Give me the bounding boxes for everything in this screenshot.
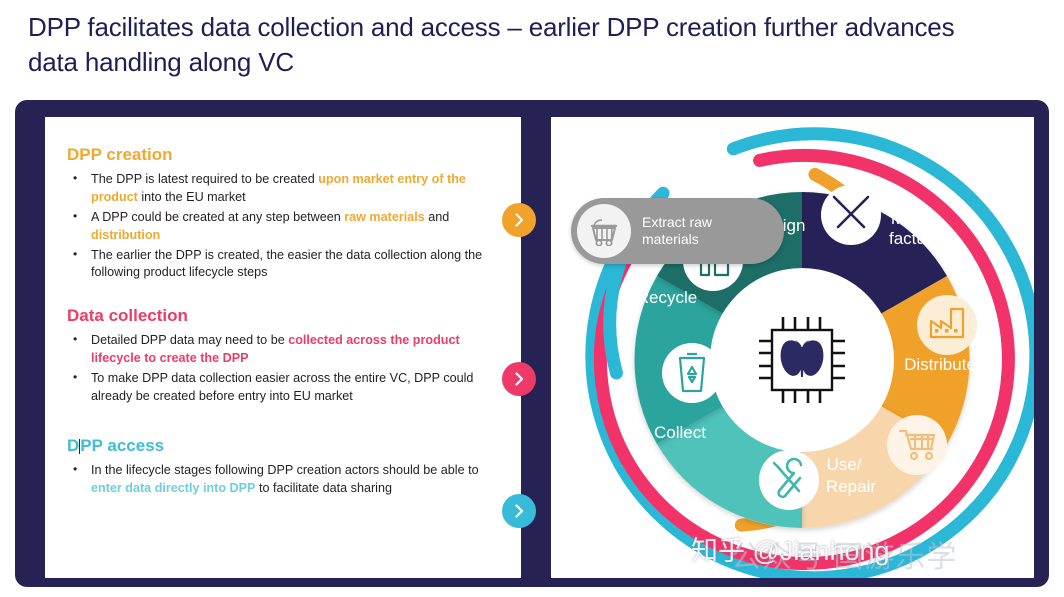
section-heading-dpp-creation: DPP creation bbox=[67, 145, 499, 165]
section-heading-dpp-access: DPP access bbox=[67, 436, 499, 456]
section-heading-data-collection: Data collection bbox=[67, 306, 499, 326]
bullet-list-dpp-creation: The DPP is latest required to be created… bbox=[67, 171, 499, 282]
section-dpp-access: DPP access In the lifecycle stages follo… bbox=[67, 436, 499, 498]
use-repair-icon-bubble[interactable] bbox=[759, 450, 819, 510]
lifecycle-wheel-svg: Design Manu- facture Distribute Use/ Rep… bbox=[567, 125, 1034, 578]
bullet-text: to facilitate data sharing bbox=[255, 481, 392, 495]
wheel-label-use-repair: Use/ bbox=[827, 455, 862, 474]
chevron-right-icon-data-collection[interactable] bbox=[502, 362, 536, 396]
wheel-label-recycle: Recycle bbox=[637, 288, 697, 307]
section-dpp-creation: DPP creation The DPP is latest required … bbox=[67, 145, 499, 282]
bullet-list-dpp-access: In the lifecycle stages following DPP cr… bbox=[67, 462, 499, 498]
list-item: In the lifecycle stages following DPP cr… bbox=[67, 462, 499, 498]
bullet-text: To make DPP data collection easier acros… bbox=[91, 371, 473, 403]
right-diagram-panel: Design Manu- facture Distribute Use/ Rep… bbox=[551, 117, 1034, 578]
section-heading-text: DPP access bbox=[67, 436, 164, 455]
collect-icon-bubble[interactable] bbox=[662, 343, 722, 403]
list-item: Detailed DPP data may need to be collect… bbox=[67, 332, 499, 368]
lifecycle-wheel: Design Manu- facture Distribute Use/ Rep… bbox=[567, 125, 1034, 578]
bullet-text: The DPP is latest required to be created bbox=[91, 172, 318, 186]
wheel-label-manufacture: Manu- bbox=[891, 209, 939, 228]
chevron-right-icon-dpp-creation[interactable] bbox=[502, 203, 536, 237]
list-item: The earlier the DPP is created, the easi… bbox=[67, 247, 499, 283]
microchip-butterfly-icon bbox=[759, 317, 845, 403]
left-content-panel: DPP creation The DPP is latest required … bbox=[45, 117, 521, 578]
wheel-label-distribute: Distribute bbox=[904, 355, 976, 374]
extract-raw-materials-label[interactable]: Extract raw materials bbox=[571, 198, 784, 264]
bullet-highlight: enter data directly into DPP bbox=[91, 481, 255, 495]
bullet-text: and bbox=[425, 210, 450, 224]
list-item: A DPP could be created at any step betwe… bbox=[67, 209, 499, 245]
bullet-text: A DPP could be created at any step betwe… bbox=[91, 210, 344, 224]
bullet-text: into the EU market bbox=[138, 190, 246, 204]
bullet-text: Detailed DPP data may need to be bbox=[91, 333, 288, 347]
bullet-highlight: raw materials bbox=[344, 210, 425, 224]
section-list: DPP creation The DPP is latest required … bbox=[45, 117, 521, 498]
slide-root: DPP facilitates data collection and acce… bbox=[0, 0, 1064, 597]
page-title: DPP facilitates data collection and acce… bbox=[28, 10, 1008, 79]
design-icon-bubble[interactable] bbox=[821, 185, 881, 245]
section-data-collection: Data collection Detailed DPP data may ne… bbox=[67, 306, 499, 406]
chevron-right-icon-dpp-access[interactable] bbox=[502, 494, 536, 528]
mine-cart-icon bbox=[577, 204, 631, 258]
list-item: The DPP is latest required to be created… bbox=[67, 171, 499, 207]
distribute-icon-bubble[interactable] bbox=[887, 415, 947, 475]
manufacture-icon-bubble[interactable] bbox=[917, 295, 977, 355]
extract-raw-materials-text: Extract raw materials bbox=[642, 214, 760, 248]
bullet-highlight: distribution bbox=[91, 228, 160, 242]
bullet-text: In the lifecycle stages following DPP cr… bbox=[91, 463, 479, 477]
wheel-label-collect: Collect bbox=[654, 423, 706, 442]
bullet-list-data-collection: Detailed DPP data may need to be collect… bbox=[67, 332, 499, 406]
text-cursor bbox=[79, 439, 80, 454]
list-item: To make DPP data collection easier acros… bbox=[67, 370, 499, 406]
wheel-label-manufacture-2: facture bbox=[889, 229, 941, 248]
bullet-text: The earlier the DPP is created, the easi… bbox=[91, 248, 482, 280]
wheel-label-use-repair-2: Repair bbox=[826, 477, 876, 496]
